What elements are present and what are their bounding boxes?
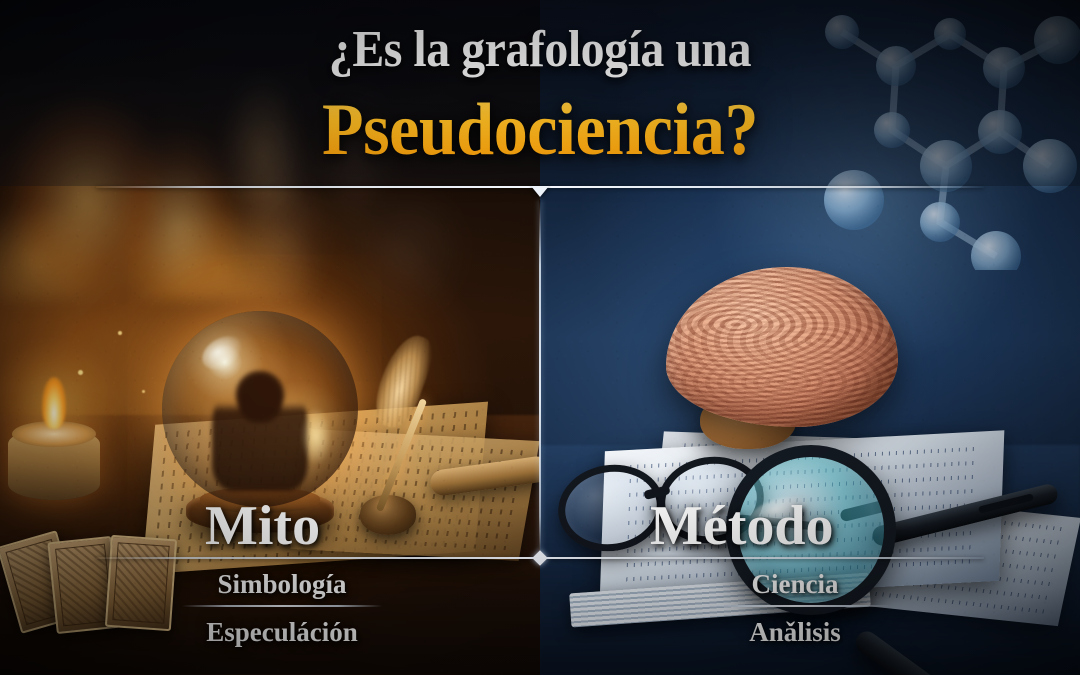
panel-left-title: Mito [205, 496, 320, 556]
human-silhouette-icon [212, 371, 308, 491]
panel-right-subtitle-2: Anǎlisis [700, 616, 890, 648]
spark-icon [78, 370, 83, 375]
headline-banner: ¿Es la grafología una Pseudociencia? [0, 0, 1080, 186]
crystal-ball-highlight-secondary [301, 408, 331, 464]
divider-sub-rule-right [700, 605, 890, 607]
headline-line-2: Pseudociencia? [43, 88, 1037, 172]
poster-canvas: ¿Es la grafología una Pseudociencia? Mit… [0, 0, 1080, 675]
chevron-down-icon [531, 186, 549, 197]
spark-icon [142, 390, 145, 393]
candle-flame-icon [42, 377, 66, 429]
headline-line-1: ¿Es la grafología una [43, 21, 1037, 79]
divider-sub-rule-left [182, 605, 382, 607]
inkwell-icon [360, 495, 416, 535]
panel-right-title: Método [650, 496, 834, 556]
panel-left-subtitle-2: Especuláción [182, 616, 382, 648]
crystal-ball-icon [162, 311, 358, 507]
panel-right-subtitle-1: Ciencia [700, 568, 890, 600]
divider-vertical [539, 200, 541, 560]
tarot-cards-icon [105, 535, 177, 631]
spark-icon [118, 331, 122, 335]
crystal-ball-highlight [197, 330, 250, 377]
panel-left-subtitle-1: Simbología [182, 568, 382, 600]
